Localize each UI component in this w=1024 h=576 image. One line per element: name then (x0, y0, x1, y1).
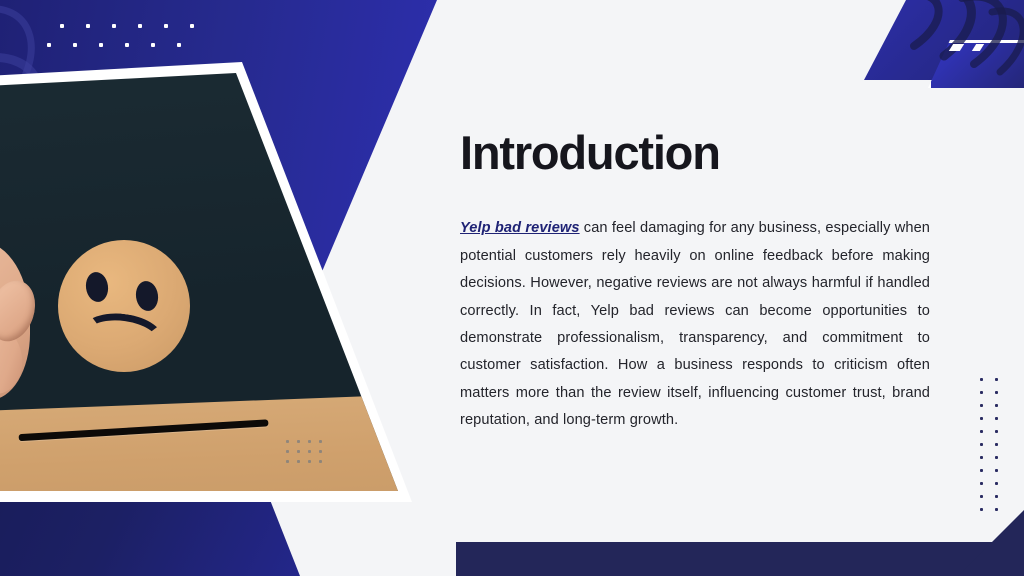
body-paragraph: Yelp bad reviews can feel damaging for a… (460, 215, 930, 434)
dot-grid-top-left (60, 24, 216, 62)
left-eye (84, 271, 110, 304)
dot-grid-photo-overlay (286, 440, 330, 470)
navy-bottom-bar (456, 542, 1024, 576)
slide-root: Introduction Yelp bad reviews can feel d… (0, 0, 1024, 576)
suggestion-box-slot (19, 419, 269, 441)
cardboard-box-surface (0, 392, 422, 502)
page-title: Introduction (460, 128, 930, 177)
sad-face-icon (58, 240, 190, 372)
right-eye (134, 280, 160, 313)
frown-mouth (79, 309, 166, 364)
text-content-area: Introduction Yelp bad reviews can feel d… (460, 128, 930, 435)
body-paragraph-rest: can feel damaging for any business, espe… (460, 220, 930, 428)
dot-grid-right-edge (980, 378, 1010, 521)
yelp-bad-reviews-link[interactable]: Yelp bad reviews (460, 220, 580, 236)
hand-holding-face (0, 232, 64, 407)
